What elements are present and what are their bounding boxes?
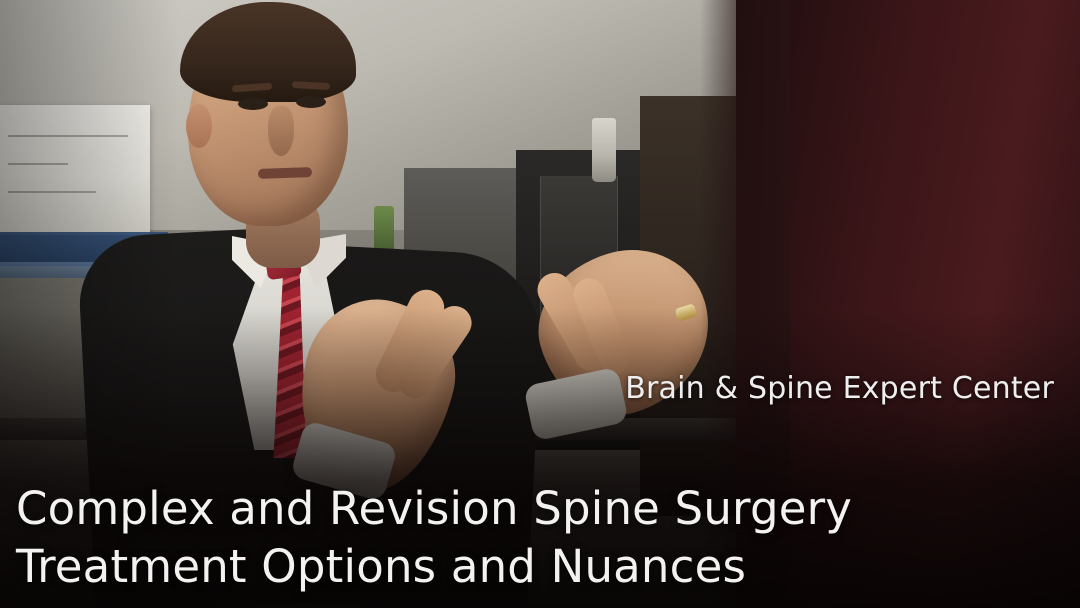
- eye-left: [238, 98, 268, 110]
- mouth: [258, 167, 312, 179]
- title-block: Complex and Revision Spine Surgery Treat…: [16, 480, 1020, 596]
- brand-label: Brain & Spine Expert Center: [625, 371, 1054, 406]
- title-line-1: Complex and Revision Spine Surgery: [16, 480, 1020, 538]
- video-thumbnail: Brain & Spine Expert Center Complex and …: [0, 0, 1080, 608]
- nose: [268, 106, 294, 156]
- eye-right: [296, 96, 326, 108]
- ear: [186, 104, 212, 148]
- title-line-2: Treatment Options and Nuances: [16, 538, 1020, 596]
